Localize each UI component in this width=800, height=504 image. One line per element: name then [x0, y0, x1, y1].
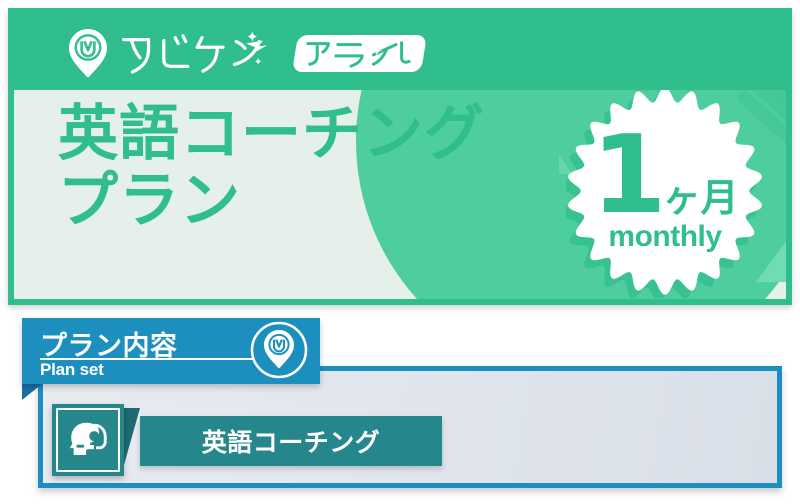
hero-card: 1 ヶ月 monthly [8, 8, 792, 305]
plan-section-subtitle: Plan set [40, 360, 104, 380]
logo-strip: ✦ ✦ ✦ ✦ [14, 14, 786, 90]
plan-item-label-text: 英語コーチング [202, 423, 381, 459]
page-title-line-1: 英語コーチング [58, 100, 485, 167]
location-pin-icon [66, 28, 110, 78]
sparkle-icon: ✦ [365, 66, 373, 75]
hero-inner: 1 ヶ月 monthly [14, 14, 786, 299]
item-tail [122, 408, 140, 472]
scallop-badge-shape [566, 84, 764, 298]
page-title-line-2: プラン [58, 167, 485, 234]
sparkle-icon: ✦ [254, 58, 262, 68]
prime-wordmark [304, 38, 415, 68]
duration-badge: 1 ヶ月 monthly [566, 84, 764, 298]
plan-section-banner: プラン内容 Plan set [22, 318, 320, 384]
prime-badge [292, 35, 426, 72]
plan-item-label: 英語コーチング [140, 416, 442, 466]
sparkle-icon: ✦ [370, 44, 383, 60]
plan-item-icon-box [52, 404, 124, 476]
icon-frame [56, 408, 120, 472]
headset-support-icon [65, 417, 111, 463]
location-pin-icon [250, 321, 308, 381]
sparkle-icon: ✦ [246, 30, 259, 45]
page-title: 英語コーチング プラン [58, 100, 485, 234]
banner-fold [22, 384, 42, 400]
